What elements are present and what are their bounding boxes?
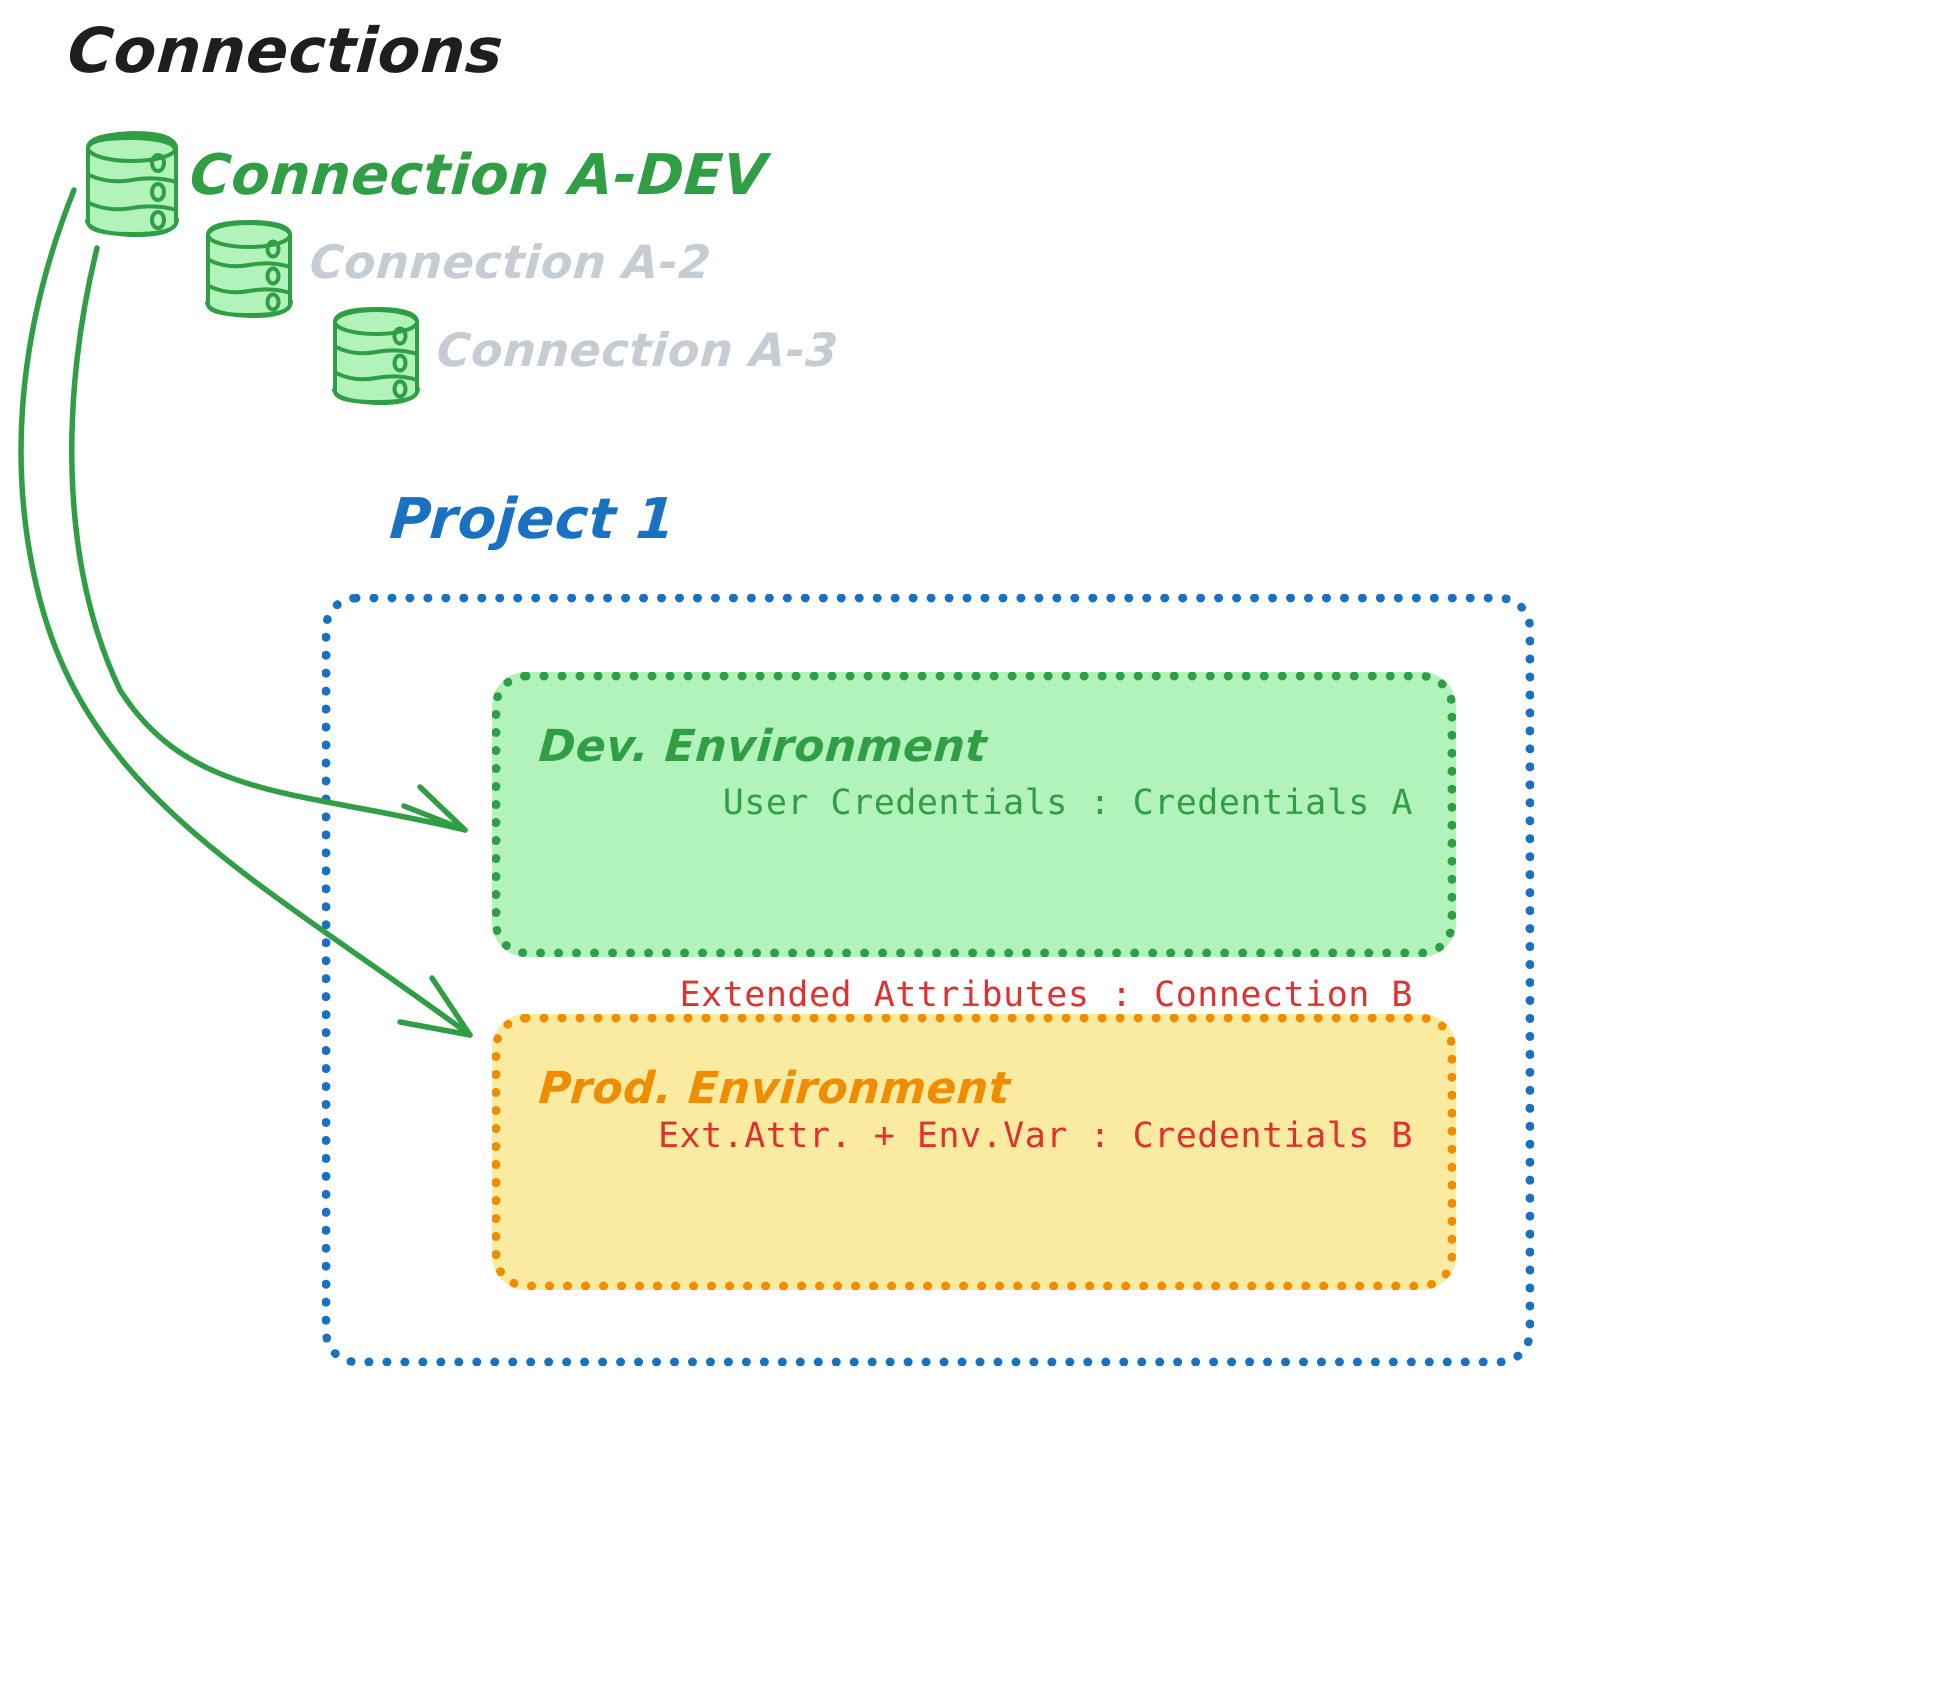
prod-environment-box[interactable]: Prod. Environment Extended Attributes : … (492, 1014, 1456, 1290)
connection-label-a-2[interactable]: Connection A-2 (308, 235, 713, 289)
prod-environment-details: Extended Attributes : Connection B Ext.A… (658, 877, 1413, 1255)
diagram-canvas: Connections (0, 0, 1938, 1691)
connection-label-a-3[interactable]: Connection A-3 (435, 323, 840, 377)
database-cylinder-icon[interactable] (200, 215, 300, 319)
prod-detail-line: Extended Attributes : Connection B (658, 972, 1413, 1019)
prod-detail-line: Ext.Attr. + Env.Var : Credentials B (658, 1113, 1413, 1160)
page-title: Connections (65, 14, 505, 87)
dev-detail-line: User Credentials : Credentials A (723, 780, 1413, 827)
project-label: Project 1 (388, 487, 678, 552)
connection-label-a-dev[interactable]: Connection A-DEV (188, 143, 769, 208)
database-cylinder-icon[interactable] (78, 126, 188, 238)
database-cylinder-icon[interactable] (327, 302, 427, 406)
